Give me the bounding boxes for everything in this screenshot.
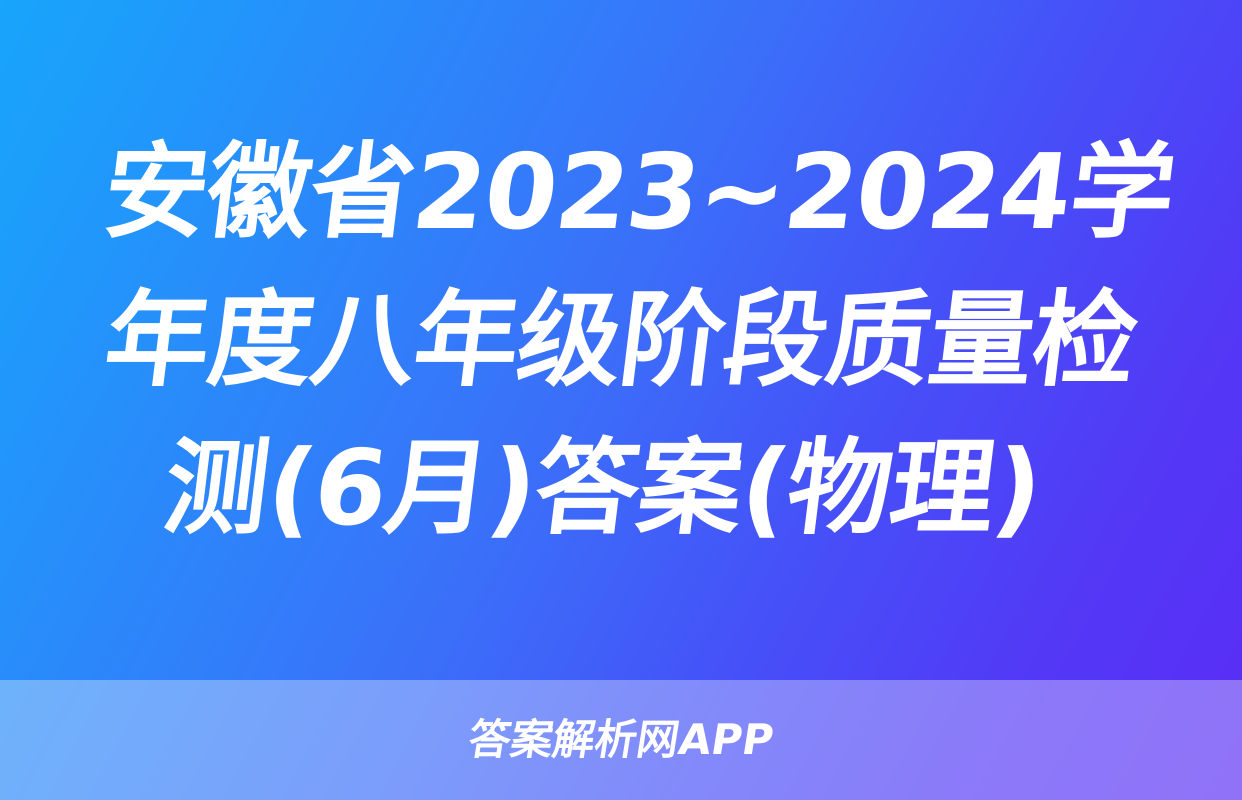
- app-watermark-label: 答案解析网APP: [466, 719, 777, 761]
- footer-watermark-band: 答案解析网APP: [0, 680, 1242, 800]
- headline-region: 安徽省2023~2024学年度八年级阶段质量检测(6月)答案(物理): [0, 0, 1242, 680]
- page-title: 安徽省2023~2024学年度八年级阶段质量检测(6月)答案(物理): [49, 118, 1194, 562]
- exam-answer-cover-card: 安徽省2023~2024学年度八年级阶段质量检测(6月)答案(物理) 答案解析网…: [0, 0, 1242, 800]
